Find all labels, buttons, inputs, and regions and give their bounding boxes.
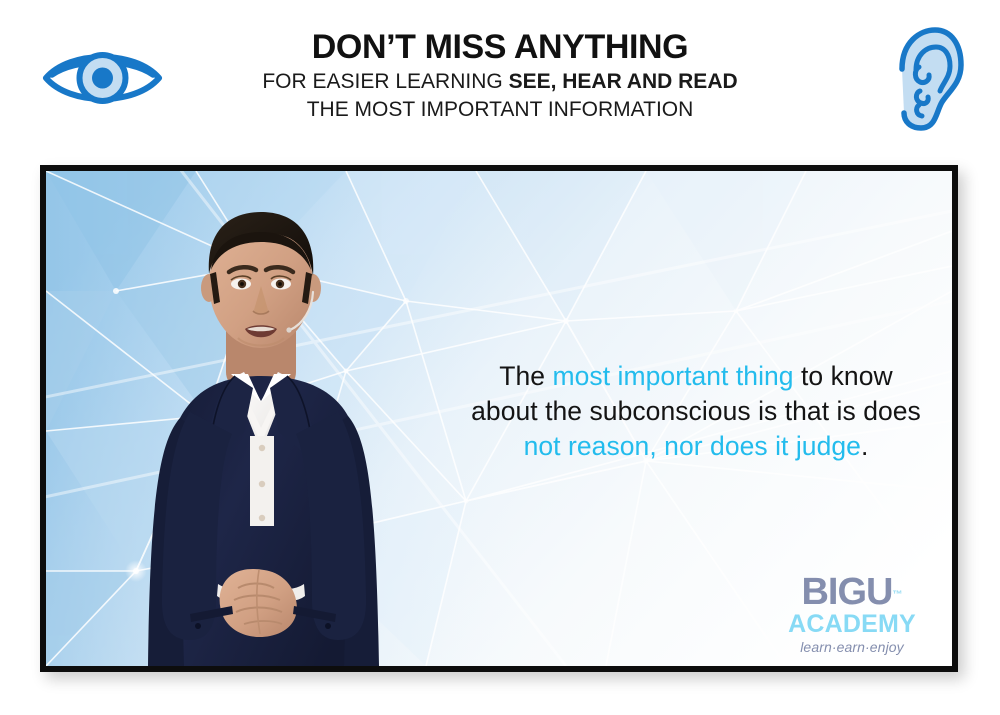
- caption-line-1: The most important thing to know: [441, 359, 951, 394]
- header-subtitle-bold: SEE, HEAR AND READ: [509, 70, 738, 93]
- header-text-block: DON’T MISS ANYTHING FOR EASIER LEARNING …: [180, 26, 820, 124]
- caption-line3-highlight: not reason, nor does it judge: [524, 431, 861, 461]
- caption-line-3: not reason, nor does it judge.: [441, 429, 951, 464]
- caption-line1-plain-a: The: [499, 361, 552, 391]
- video-content: The most important thing to know about t…: [46, 171, 952, 666]
- bigu-academy-logo: BIGU™ ACADEMY learn·earn·enjoy: [776, 573, 928, 656]
- caption-line1-highlight: most important thing: [553, 361, 794, 391]
- video-player-frame[interactable]: The most important thing to know about t…: [40, 165, 958, 672]
- logo-academy-text: ACADEMY: [776, 611, 928, 638]
- logo-u-text: U: [866, 573, 892, 611]
- caption-line3-plain: .: [861, 431, 868, 461]
- caption-line1-plain-b: to know: [794, 361, 893, 391]
- logo-big-text: BIG: [801, 573, 866, 611]
- header-subtitle-line2: THE MOST IMPORTANT INFORMATION: [180, 96, 820, 124]
- header-subtitle-line1: FOR EASIER LEARNING SEE, HEAR AND READ: [180, 68, 820, 96]
- header-subtitle-regular: FOR EASIER LEARNING: [262, 70, 508, 93]
- logo-line-1: BIGU™: [776, 573, 928, 611]
- video-caption: The most important thing to know about t…: [441, 359, 951, 464]
- page-title: DON’T MISS ANYTHING: [180, 26, 820, 68]
- caption-line-2: about the subconscious is that is does: [441, 394, 951, 429]
- eye-icon: [40, 42, 165, 114]
- ear-icon: [888, 25, 966, 133]
- presenter-figure: [98, 196, 428, 666]
- trademark-icon: ™: [893, 590, 903, 601]
- logo-tagline: learn·earn·enjoy: [776, 638, 928, 656]
- header: DON’T MISS ANYTHING FOR EASIER LEARNING …: [0, 0, 1000, 160]
- slide-root: DON’T MISS ANYTHING FOR EASIER LEARNING …: [0, 0, 1000, 715]
